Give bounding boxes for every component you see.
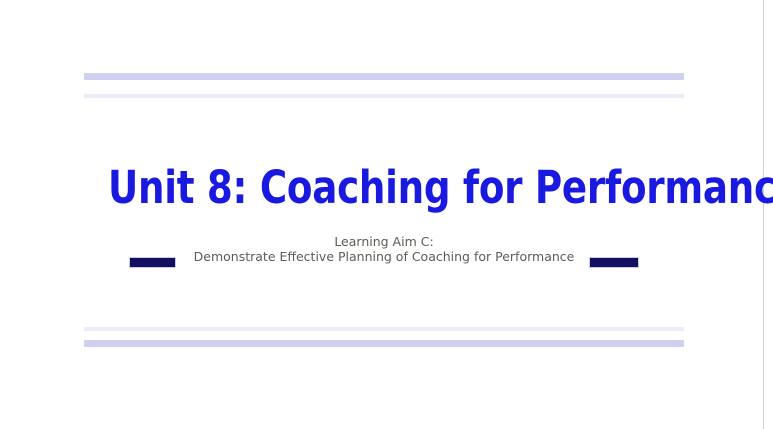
right-dash-ornament [589, 257, 639, 268]
bottom-thick-divider-rule [84, 340, 684, 347]
subtitle-block: Learning Aim C: Demonstrate Effective Pl… [84, 234, 684, 276]
title-block: Unit 8: Coaching for Performance [84, 160, 684, 215]
top-thin-divider-rule [84, 94, 684, 98]
bottom-thin-divider-rule [84, 327, 684, 331]
slide-canvas: Unit 8: Coaching for Performance Learnin… [0, 0, 764, 429]
top-thick-divider-rule [84, 73, 684, 80]
page-title: Unit 8: Coaching for Performance [108, 160, 660, 215]
subtitle-line-one: Learning Aim C: [84, 234, 684, 249]
